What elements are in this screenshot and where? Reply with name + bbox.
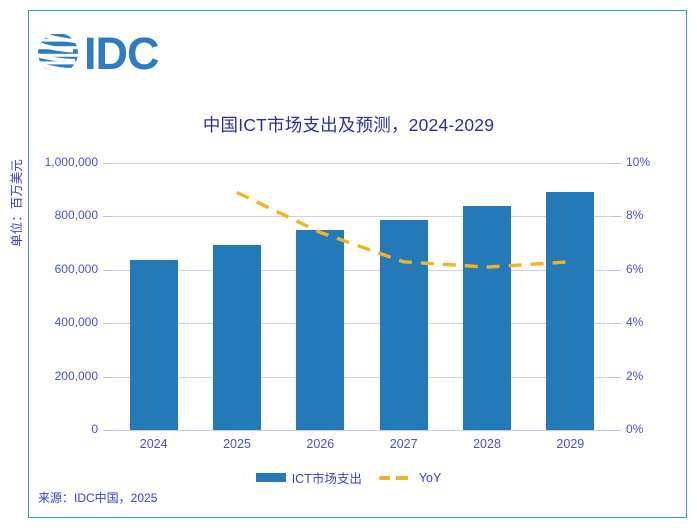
bar-series — [112, 163, 612, 430]
y2-axis-tick — [612, 323, 621, 324]
x-axis-labels: 202420252026202720282029 — [112, 437, 612, 457]
x-axis-tick-label: 2029 — [556, 437, 584, 451]
bar — [130, 260, 178, 430]
x-axis-tick-label: 2027 — [390, 437, 418, 451]
bar — [546, 192, 594, 430]
bar — [380, 220, 428, 430]
y-axis-tick — [103, 270, 112, 271]
idc-wordmark: IDC — [84, 31, 159, 76]
y2-axis-tick — [612, 216, 621, 217]
plot-area: 0200,000400,000600,000800,0001,000,0000%… — [112, 163, 612, 430]
y2-axis-tick-label: 2% — [626, 370, 643, 382]
chart-page: IDC 中国ICT市场支出及预测，2024-2029 单位：百万美元 0200,… — [0, 0, 697, 532]
y-axis-tick-label: 1,000,000 — [45, 156, 98, 168]
y-axis-tick — [103, 163, 112, 164]
y2-axis-tick-label: 10% — [626, 156, 650, 168]
y-axis-tick-label: 0 — [91, 423, 98, 435]
legend-line-label: YoY — [419, 471, 441, 485]
bar — [213, 245, 261, 430]
x-axis-tick-label: 2028 — [473, 437, 501, 451]
gridline — [112, 430, 612, 431]
y2-axis-tick — [612, 377, 621, 378]
y2-axis-tick-label: 8% — [626, 209, 643, 221]
legend-line-swatch-icon — [379, 476, 413, 480]
x-axis-tick-label: 2024 — [140, 437, 168, 451]
y-axis-tick — [103, 377, 112, 378]
y-axis-tick-label: 400,000 — [55, 316, 98, 328]
y-axis-tick — [103, 430, 112, 431]
y-axis-tick-label: 600,000 — [55, 263, 98, 275]
y2-axis-tick-label: 4% — [626, 316, 643, 328]
y2-axis-tick-label: 6% — [626, 263, 643, 275]
x-axis-tick-label: 2025 — [223, 437, 251, 451]
legend-bar-swatch-icon — [256, 473, 286, 482]
y-axis-tick — [103, 216, 112, 217]
y2-axis-tick — [612, 163, 621, 164]
y-axis-tick-label: 800,000 — [55, 209, 98, 221]
y-axis-tick — [103, 323, 112, 324]
y-axis-unit-label: 单位：百万美元 — [6, 138, 25, 268]
legend-item-bar: ICT市场支出 — [256, 468, 362, 487]
bar — [463, 206, 511, 430]
bar — [296, 230, 344, 430]
x-axis-tick-label: 2026 — [306, 437, 334, 451]
idc-globe-icon — [35, 30, 81, 76]
idc-logo: IDC — [35, 30, 159, 76]
y2-axis-tick — [612, 430, 621, 431]
y2-axis-tick — [612, 270, 621, 271]
y2-axis-tick-label: 0% — [626, 423, 643, 435]
y-axis-tick-label: 200,000 — [55, 370, 98, 382]
chart-legend: ICT市场支出 YoY — [0, 468, 697, 487]
legend-bar-label: ICT市场支出 — [292, 468, 362, 487]
chart-title: 中国ICT市场支出及预测，2024-2029 — [0, 112, 697, 137]
legend-item-line: YoY — [379, 471, 441, 485]
source-note: 来源：IDC中国，2025 — [38, 489, 157, 506]
